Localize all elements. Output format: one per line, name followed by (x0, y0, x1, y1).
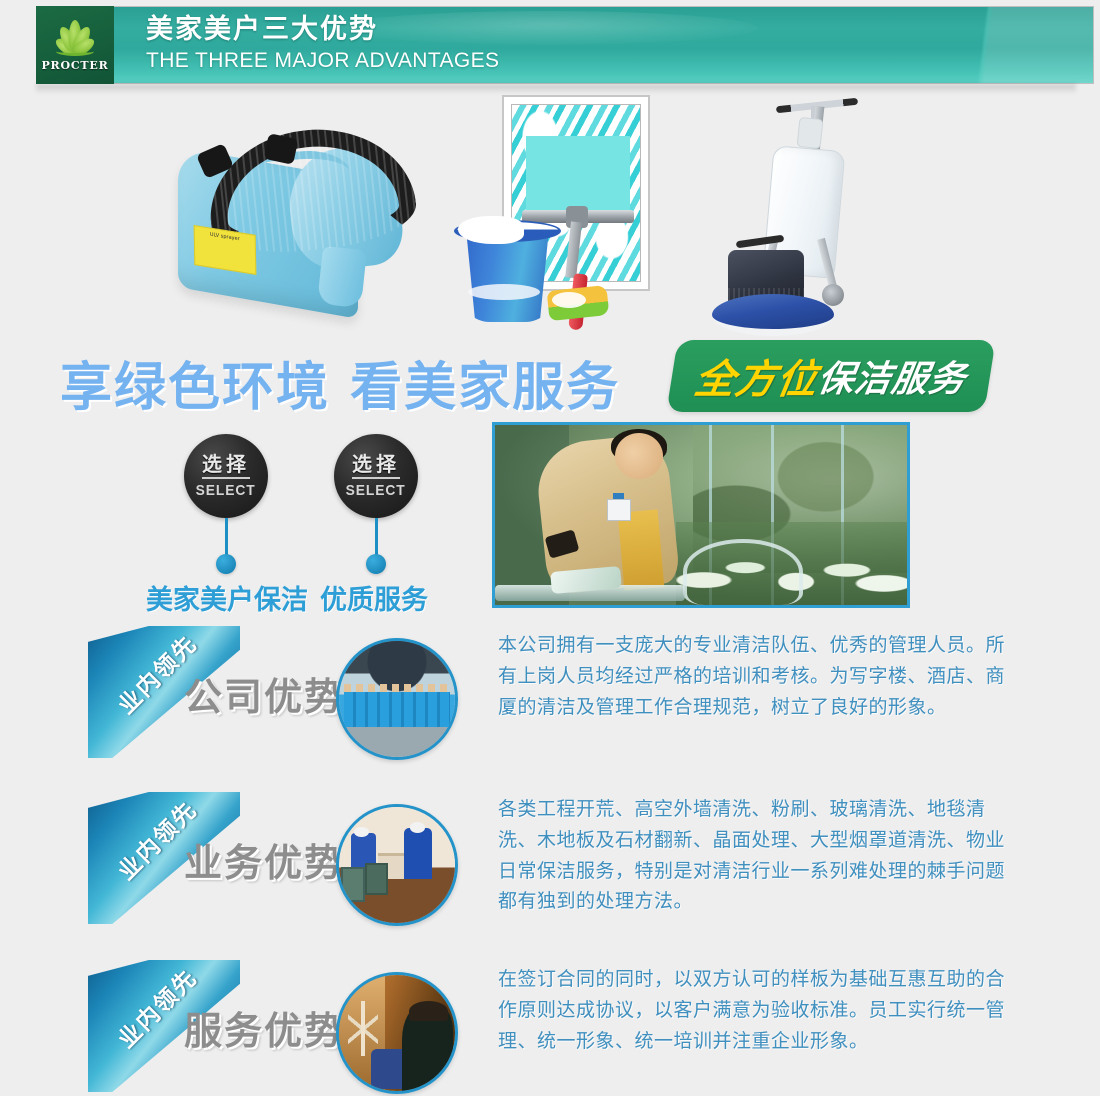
green-badge: 全方位 保洁服务 (666, 340, 995, 412)
select-badge-1: 选择 SELECT (184, 434, 268, 518)
select-badge-2: 选择 SELECT (334, 434, 418, 518)
select-badge-2-en: SELECT (346, 482, 406, 499)
advantage-text-2: 各类工程开荒、高空外墙清洗、粉刷、玻璃清洗、地毯清洗、木地板及石材翻新、晶面处理… (498, 794, 1010, 917)
select-badge-2-cn: 选择 (352, 454, 400, 479)
header-title-cn: 美家美户三大优势 (146, 15, 499, 45)
advantage-title-1: 公司优势 (184, 666, 344, 721)
advantage-text-1: 本公司拥有一支庞大的专业清洁队伍、优秀的管理人员。所有上岗人员均经过严格的培训和… (498, 630, 1010, 722)
header-titles: 美家美户三大优势 THE THREE MAJOR ADVANTAGES (146, 15, 499, 73)
worker-spraying-wall-photo (336, 972, 458, 1094)
badge-text-yellow: 全方位 (691, 347, 823, 405)
window-cleaning-image (440, 88, 690, 338)
brand-logo: PROCTER (36, 6, 114, 84)
connector-line-2 (375, 518, 378, 558)
select-badge-1-en: SELECT (196, 482, 256, 499)
floor-polisher-image (706, 88, 926, 343)
ulv-sprayer-image: ULV sprayer (170, 108, 430, 328)
select-caption-1: 美家美户保洁 (146, 578, 308, 617)
connector-dot-1 (216, 554, 236, 574)
page-header: PROCTER 美家美户三大优势 THE THREE MAJOR ADVANTA… (36, 6, 1094, 84)
main-slogan: 享绿色环境 看美家服务 (60, 345, 620, 420)
product-image-row: ULV sprayer (0, 88, 1100, 348)
header-title-en: THE THREE MAJOR ADVANTAGES (146, 49, 499, 73)
select-badge-1-cn: 选择 (202, 454, 250, 479)
logo-wordmark: PROCTER (41, 59, 108, 72)
advantage-text-3: 在签订合同的同时，以双方认可的样板为基础互惠互助的合作原则达成协议，以客户满意为… (498, 964, 1010, 1056)
connector-dot-2 (366, 554, 386, 574)
advantage-row-service: 业内领先 服务优势 在签订合同的同时，以双方认可的样板为基础互惠互助的合作原则达… (0, 958, 1100, 1096)
advantage-title-3: 服务优势 (184, 1000, 344, 1055)
advantages-poster: PROCTER 美家美户三大优势 THE THREE MAJOR ADVANTA… (0, 0, 1100, 1096)
leaves-crown-icon (45, 18, 105, 58)
staff-team-lineup-photo (336, 638, 458, 760)
connector-line-1 (225, 518, 228, 558)
cleaner-photo (492, 422, 910, 608)
select-caption-2: 优质服务 (320, 578, 428, 617)
advantage-title-2: 业务优势 (184, 832, 344, 887)
advantage-row-business: 业内领先 业务优势 各类工程开荒、高空外墙清洗、粉刷、玻璃清洗、地毯清洗、木地板… (0, 790, 1100, 940)
indoor-cleaning-crew-photo (336, 804, 458, 926)
badge-text-white: 保洁服务 (814, 350, 970, 402)
advantage-row-company: 业内领先 公司优势 本公司拥有一支庞大的专业清洁队伍、优秀的管理人员。所有上岗人… (0, 624, 1100, 774)
